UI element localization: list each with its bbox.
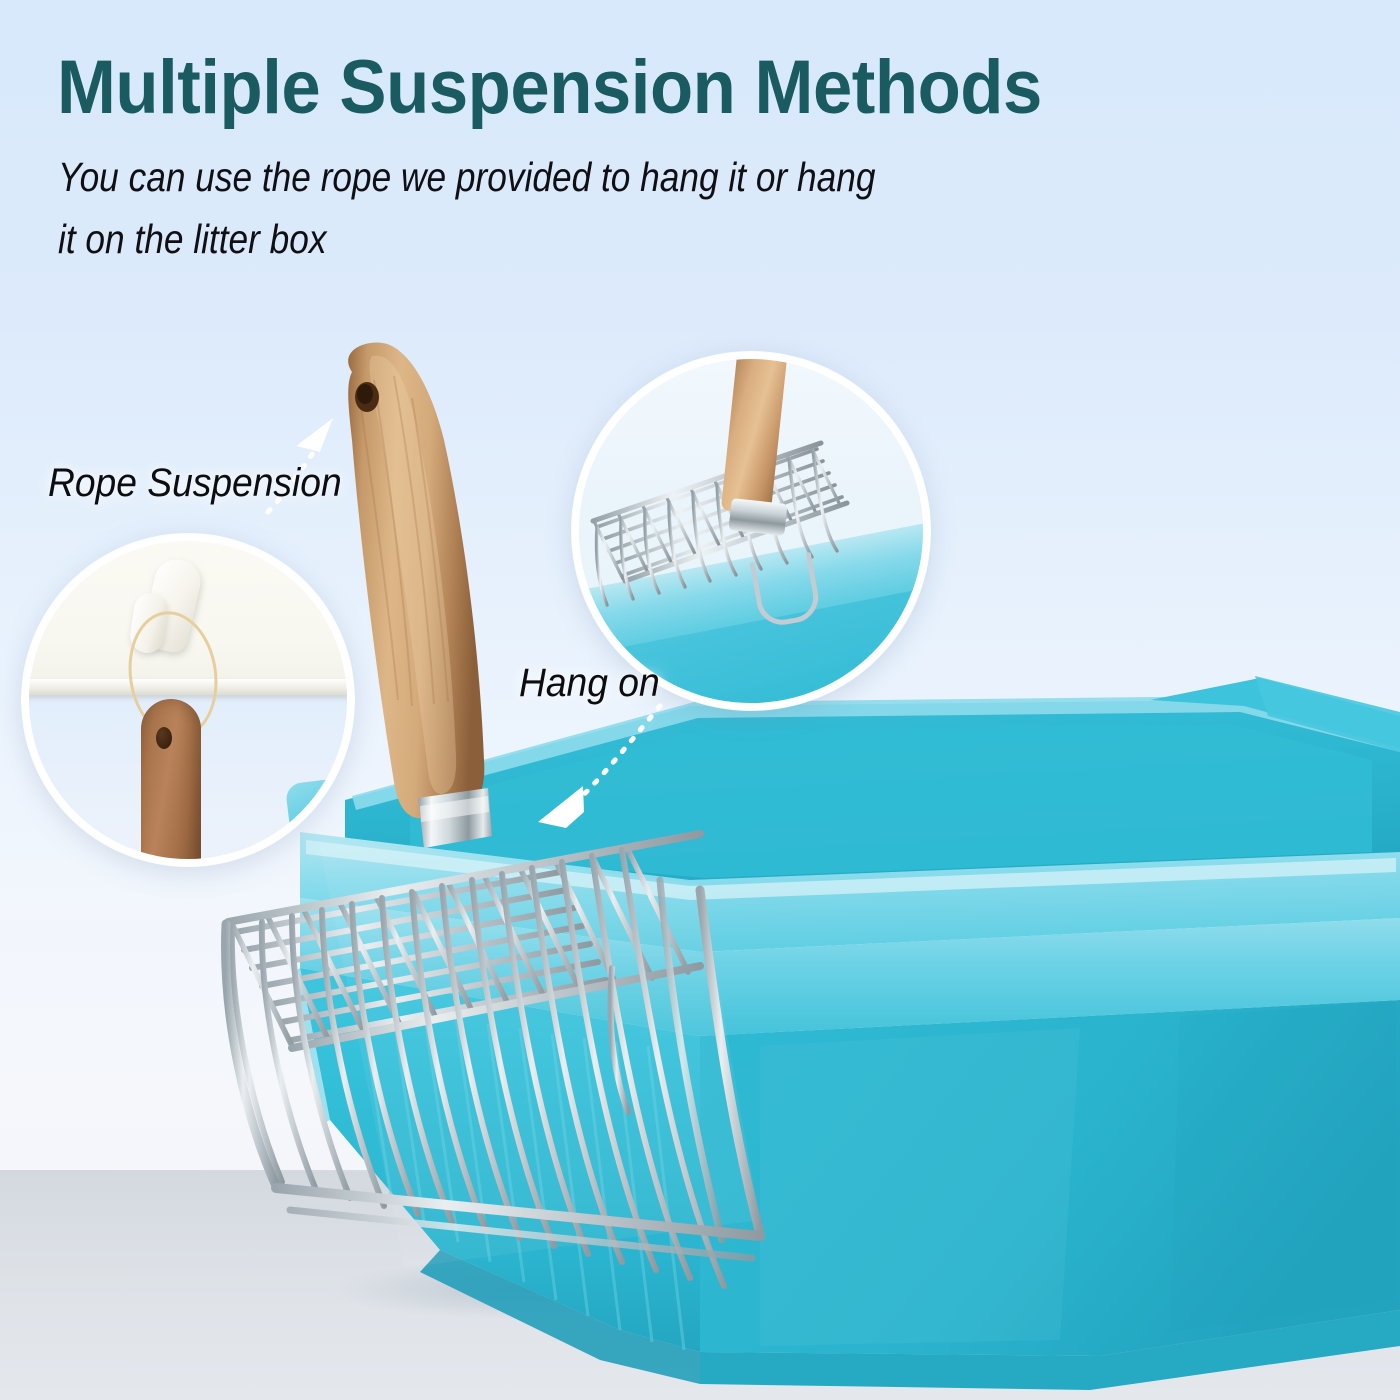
callout-label-hang-on: Hang on	[519, 660, 660, 706]
hang-on-inset	[572, 352, 930, 710]
inset-wooden-handle	[141, 699, 201, 866]
product-feature-image: Multiple Suspension Methods You can use …	[0, 0, 1400, 1400]
page-subtitle-line-1: You can use the rope we provided to hang…	[58, 146, 978, 208]
inset-handle-hole	[156, 727, 172, 749]
page-title: Multiple Suspension Methods	[57, 46, 1042, 130]
page-subtitle: You can use the rope we provided to hang…	[58, 146, 978, 270]
scoop-wooden-handle	[348, 342, 492, 848]
rope-suspension-inset	[22, 534, 354, 866]
inset-scoop-ferrule	[728, 498, 787, 536]
inset-litter-box-corner	[285, 770, 354, 866]
page-subtitle-line-2: it on the litter box	[58, 208, 978, 270]
callout-label-rope-suspension: Rope Suspension	[48, 460, 342, 506]
